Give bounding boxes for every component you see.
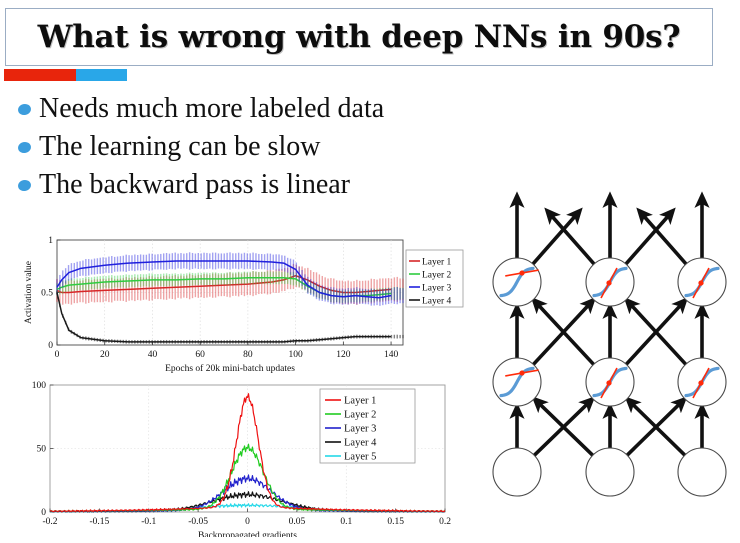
activation-chart: 02040608010012014000.51Epochs of 20k min… <box>20 228 465 373</box>
svg-text:Layer 2: Layer 2 <box>422 270 452 280</box>
bullet-text: The learning can be slow <box>39 133 320 161</box>
slide-canvas: What is wrong with deep NNs in 90s? Need… <box>0 0 740 541</box>
svg-text:Layer 3: Layer 3 <box>344 424 376 435</box>
svg-text:0: 0 <box>55 350 60 360</box>
bullet-dot-icon <box>17 102 32 115</box>
bullet-dot-icon <box>17 140 32 153</box>
svg-text:50: 50 <box>37 445 47 455</box>
svg-text:Layer 1: Layer 1 <box>422 257 452 267</box>
svg-text:Layer 4: Layer 4 <box>344 438 377 449</box>
svg-text:Layer 3: Layer 3 <box>422 283 452 293</box>
svg-text:Layer 5: Layer 5 <box>344 452 376 463</box>
page-title: What is wrong with deep NNs in 90s? <box>6 9 712 65</box>
accent-bar-red <box>4 69 76 81</box>
svg-text:Epochs of 20k mini-batch updat: Epochs of 20k mini-batch updates <box>165 363 295 373</box>
svg-text:40: 40 <box>148 350 158 360</box>
svg-text:-0.2: -0.2 <box>42 517 57 527</box>
svg-text:100: 100 <box>288 350 303 360</box>
svg-text:0.1: 0.1 <box>340 517 352 527</box>
svg-text:0.15: 0.15 <box>387 517 404 527</box>
svg-text:0.2: 0.2 <box>439 517 451 527</box>
accent-bar-blue <box>76 69 127 81</box>
list-item: Needs much more labeled data <box>18 90 488 128</box>
svg-text:-0.15: -0.15 <box>89 517 109 527</box>
svg-text:1: 1 <box>48 236 53 246</box>
svg-text:0: 0 <box>245 517 250 527</box>
svg-text:80: 80 <box>243 350 253 360</box>
bullet-text: The backward pass is linear <box>39 171 350 199</box>
svg-text:-0.05: -0.05 <box>188 517 208 527</box>
svg-text:140: 140 <box>384 350 399 360</box>
title-box: What is wrong with deep NNs in 90s? <box>5 8 713 66</box>
svg-text:Activation value: Activation value <box>24 261 34 324</box>
network-svg <box>462 172 738 538</box>
bullet-dot-icon <box>17 178 32 191</box>
svg-text:0.5: 0.5 <box>41 289 53 299</box>
list-item: The backward pass is linear <box>18 166 488 204</box>
feedforward-network-diagram <box>462 172 738 538</box>
svg-text:60: 60 <box>195 350 205 360</box>
activation-chart-svg: 02040608010012014000.51Epochs of 20k min… <box>20 228 465 373</box>
svg-text:-0.1: -0.1 <box>141 517 156 527</box>
svg-text:0.05: 0.05 <box>289 517 306 527</box>
svg-text:0: 0 <box>48 341 53 351</box>
svg-text:120: 120 <box>336 350 351 360</box>
gradients-chart: -0.2-0.15-0.1-0.0500.050.10.150.2050100B… <box>20 375 465 537</box>
bullet-list: Needs much more labeled data The learnin… <box>18 90 488 204</box>
gradients-chart-svg: -0.2-0.15-0.1-0.0500.050.10.150.2050100B… <box>20 375 465 537</box>
svg-text:100: 100 <box>32 381 47 391</box>
list-item: The learning can be slow <box>18 128 488 166</box>
svg-text:20: 20 <box>100 350 110 360</box>
svg-text:Layer 4: Layer 4 <box>422 296 452 306</box>
svg-text:Layer 2: Layer 2 <box>344 410 376 421</box>
bullet-text: Needs much more labeled data <box>39 95 384 123</box>
svg-text:0: 0 <box>41 508 46 518</box>
svg-text:Layer 1: Layer 1 <box>344 396 376 407</box>
svg-text:Backpropagated gradients: Backpropagated gradients <box>198 531 297 537</box>
